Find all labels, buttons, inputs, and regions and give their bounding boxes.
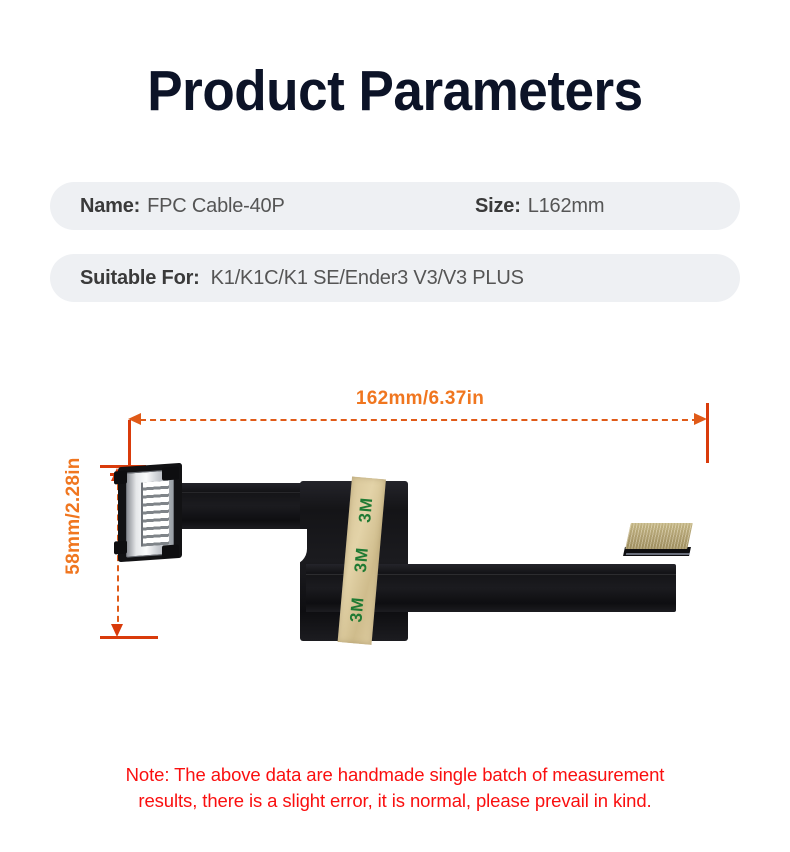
gold-contact-pad — [625, 523, 693, 549]
spec-cell-size: Size: L162mm — [475, 182, 604, 230]
tape-brand-text: 3M — [355, 489, 378, 531]
dimension-width-line — [140, 419, 698, 421]
gold-contact-pad-shine — [626, 553, 690, 555]
spec-value-name: FPC Cable-40P — [147, 195, 284, 218]
connector-tab-bottom — [162, 544, 179, 558]
fpc-connector — [118, 465, 182, 560]
spec-label-suitable-for: Suitable For: — [80, 267, 200, 290]
connector-tab-left-bottom — [114, 541, 127, 555]
spec-cell-suitable-for: Suitable For: K1/K1C/K1 SE/Ender3 V3/V3 … — [80, 254, 524, 302]
page-title: Product Parameters — [28, 62, 763, 122]
spec-row-suitable-for: Suitable For: K1/K1C/K1 SE/Ender3 V3/V3 … — [50, 254, 740, 302]
note-line-1: Note: The above data are handmade single… — [45, 762, 745, 788]
ribbon-upper-arm — [172, 483, 320, 529]
connector-tab-top — [162, 466, 179, 480]
spec-value-suitable-for: K1/K1C/K1 SE/Ender3 V3/V3 PLUS — [211, 267, 524, 290]
ribbon-inner-notch — [172, 529, 307, 565]
product-photo: 3M 3M 3M — [0, 440, 790, 670]
tape-brand-text: 3M — [346, 589, 369, 631]
spec-label-size: Size: — [475, 195, 521, 218]
spec-value-size: L162mm — [528, 195, 605, 218]
spec-label-name: Name: — [80, 195, 140, 218]
note-line-2: results, there is a slight error, it is … — [45, 788, 745, 814]
connector-tab-left-top — [114, 471, 127, 485]
spec-row-name-size: Name: FPC Cable-40P Size: L162mm — [50, 182, 740, 230]
dimension-width-label: 162mm/6.37in — [250, 388, 590, 410]
spec-cell-name: Name: FPC Cable-40P — [80, 182, 285, 230]
connector-contact-fingers — [141, 481, 169, 547]
note-text: Note: The above data are handmade single… — [45, 762, 745, 815]
tape-brand-text: 3M — [350, 539, 373, 581]
